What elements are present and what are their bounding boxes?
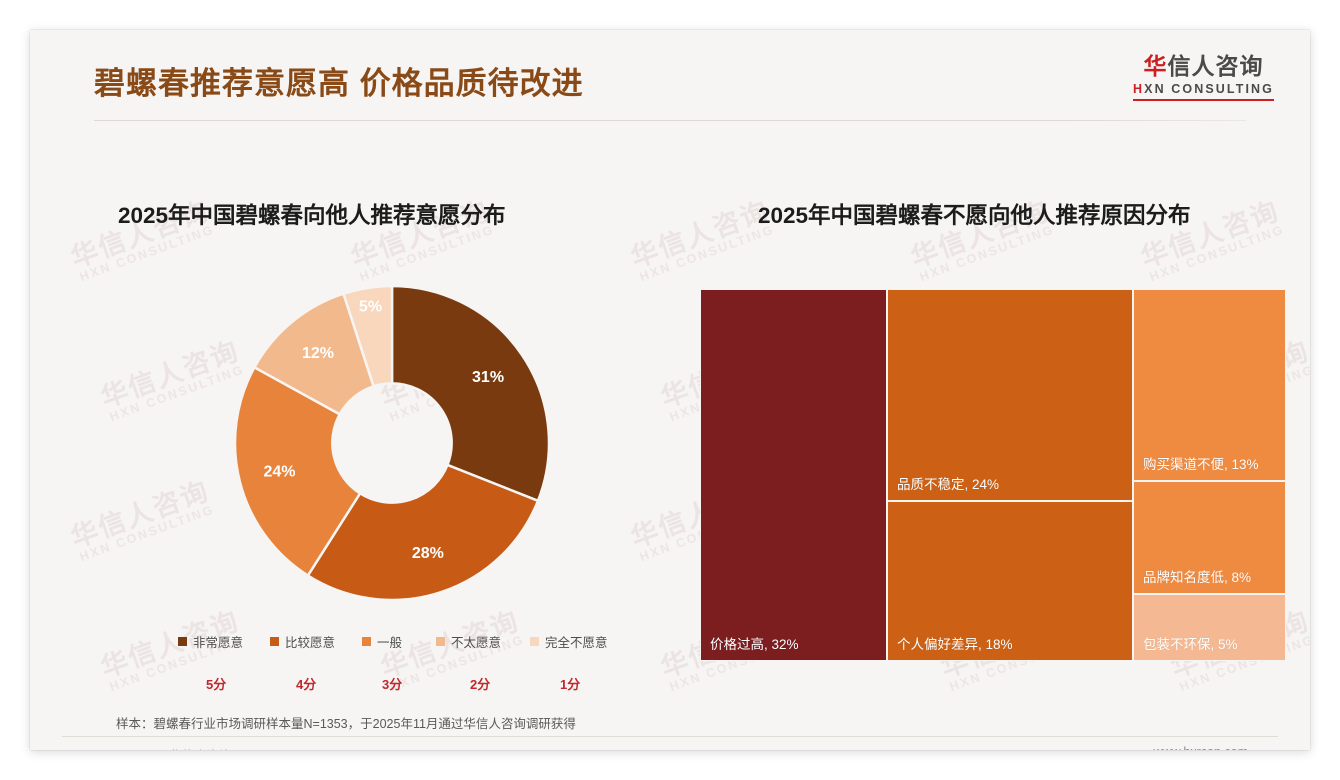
watermark: 华信人咨询HXN CONSULTING [67,476,217,565]
treemap-cell-label: 品牌知名度低, 8% [1143,566,1251,586]
right-chart-title: 2025年中国碧螺春不愿向他人推荐原因分布 [758,198,1191,230]
watermark: 华信人咨询HXN CONSULTING [97,336,247,425]
legend-swatch-icon [362,637,371,646]
treemap-cell-label: 包装不环保, 5% [1143,633,1238,653]
legend-item-label: 一般 [377,632,402,651]
logo-chinese: 华信人咨询 [1133,54,1274,79]
logo-english: HXN CONSULTING [1133,82,1274,96]
logo-underline [1133,99,1274,101]
brand-logo: 华信人咨询 HXN CONSULTING [1133,54,1274,101]
legend-item-label: 比较愿意 [285,632,335,651]
donut-slice-label: 5% [359,299,382,316]
unwilling-reasons-treemap-chart: 价格过高, 32%品质不稳定, 24%个人偏好差异, 18%购买渠道不便, 13… [700,289,1286,661]
slide-canvas: 华信人咨询HXN CONSULTING华信人咨询HXN CONSULTING华信… [30,30,1310,750]
score-label: 4分 [296,674,316,693]
score-label: 1分 [560,674,580,693]
donut-legend: 非常愿意比较愿意一般不太愿意完全不愿意 [178,632,648,650]
copyright-text: ©2026.1 HXR华信人咨询 [92,745,232,750]
legend-item[interactable]: 比较愿意 [270,632,335,651]
legend-swatch-icon [178,637,187,646]
legend-item-label: 不太愿意 [451,632,501,651]
legend-item[interactable]: 完全不愿意 [530,632,608,651]
treemap-cell-label: 价格过高, 32% [710,633,799,653]
header-divider [94,120,1246,121]
page-title: 碧螺春推荐意愿高 价格品质待改进 [94,58,584,103]
legend-item[interactable]: 一般 [362,632,402,651]
donut-svg: 31%28%24%12%5% [227,278,557,608]
score-label: 5分 [206,674,226,693]
treemap-cell-label: 个人偏好差异, 18% [897,633,1013,653]
donut-slice-label: 12% [302,345,334,362]
donut-slice[interactable] [392,286,549,501]
treemap-cell-label: 品质不稳定, 24% [897,473,999,493]
logo-en-dark: XN CONSULTING [1144,82,1274,96]
website-link[interactable]: www.hxrcon.com [1154,745,1248,750]
sample-note: 样本：碧螺春行业市场调研样本量N=1353，于2025年11月通过华信人咨询调研… [116,713,576,732]
watermark: 华信人咨询HXN CONSULTING [627,196,777,285]
score-scale-row: 5分4分3分2分1分 [178,674,648,694]
treemap-cell[interactable]: 个人偏好差异, 18% [887,501,1133,661]
recommendation-willingness-donut-chart: 31%28%24%12%5% [227,278,557,608]
legend-item[interactable]: 非常愿意 [178,632,243,651]
logo-cn-red: 华 [1144,53,1168,79]
legend-swatch-icon [530,637,539,646]
legend-item-label: 完全不愿意 [545,632,608,651]
legend-item[interactable]: 不太愿意 [436,632,501,651]
legend-item-label: 非常愿意 [193,632,243,651]
treemap-cell[interactable]: 价格过高, 32% [700,289,887,661]
footer-divider [62,736,1278,737]
score-label: 3分 [382,674,402,693]
score-label: 2分 [470,674,490,693]
donut-slice-label: 24% [264,463,296,480]
logo-cn-dark: 信人咨询 [1168,53,1264,79]
treemap-cell[interactable]: 品质不稳定, 24% [887,289,1133,501]
treemap-cell[interactable]: 品牌知名度低, 8% [1133,481,1286,594]
treemap-cell[interactable]: 购买渠道不便, 13% [1133,289,1286,481]
donut-slice-label: 28% [412,545,444,562]
slide-header: 碧螺春推荐意愿高 价格品质待改进 华信人咨询 HXN CONSULTING [30,30,1310,124]
donut-slice-label: 31% [472,369,504,386]
treemap-cell[interactable]: 包装不环保, 5% [1133,594,1286,661]
logo-en-red: H [1133,82,1144,96]
legend-swatch-icon [436,637,445,646]
left-chart-title: 2025年中国碧螺春向他人推荐意愿分布 [118,198,506,230]
treemap-cell-label: 购买渠道不便, 13% [1143,453,1259,473]
legend-swatch-icon [270,637,279,646]
